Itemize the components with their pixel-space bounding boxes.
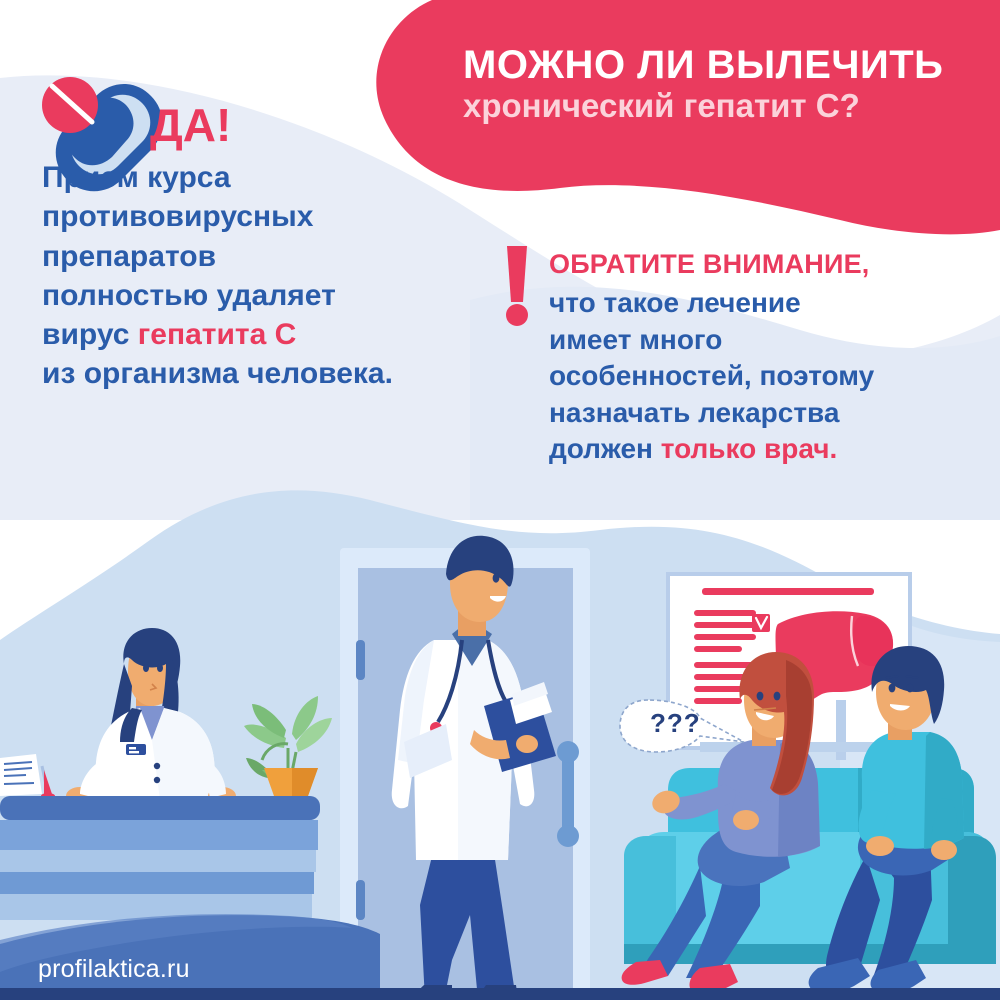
header-title-block: МОЖНО ЛИ ВЫЛЕЧИТЬ хронический гепатит C? bbox=[463, 44, 983, 125]
answer-line-5-plain: вирус bbox=[42, 318, 138, 351]
notice-line-4: назначать лекарства bbox=[549, 395, 979, 432]
site-watermark: profilaktica.ru bbox=[38, 955, 190, 984]
answer-body-text: Прием курса противовирусных препаратов п… bbox=[42, 158, 462, 394]
answer-yes-word: ДА! bbox=[150, 98, 231, 152]
answer-line-2: противовирусных bbox=[42, 197, 462, 236]
speech-bubble-text: ??? bbox=[650, 708, 701, 739]
notice-line-3: особенностей, поэтому bbox=[549, 358, 979, 395]
notice-line-2: имеет много bbox=[549, 322, 979, 359]
notice-line-5-plain: должен bbox=[549, 433, 661, 464]
answer-line-5: вирус гепатита С bbox=[42, 315, 462, 354]
answer-line-6: из организма человека. bbox=[42, 354, 462, 393]
title-line-2: хронический гепатит C? bbox=[463, 88, 983, 125]
answer-line-1: Прием курса bbox=[42, 158, 462, 197]
notice-body-text: что такое лечение имеет много особенност… bbox=[549, 285, 979, 468]
title-line-1: МОЖНО ЛИ ВЫЛЕЧИТЬ bbox=[463, 44, 983, 86]
notice-heading: ОБРАТИТЕ ВНИМАНИЕ, bbox=[549, 249, 870, 280]
notice-line-5-highlight: только врач. bbox=[661, 433, 838, 464]
answer-line-5-highlight: гепатита С bbox=[138, 318, 297, 351]
notice-line-1: что такое лечение bbox=[549, 285, 979, 322]
answer-line-4: полностью удаляет bbox=[42, 276, 462, 315]
answer-line-3: препаратов bbox=[42, 237, 462, 276]
notice-line-5: должен только врач. bbox=[549, 431, 979, 468]
infographic-poster: МОЖНО ЛИ ВЫЛЕЧИТЬ хронический гепатит C?… bbox=[0, 0, 1000, 1000]
